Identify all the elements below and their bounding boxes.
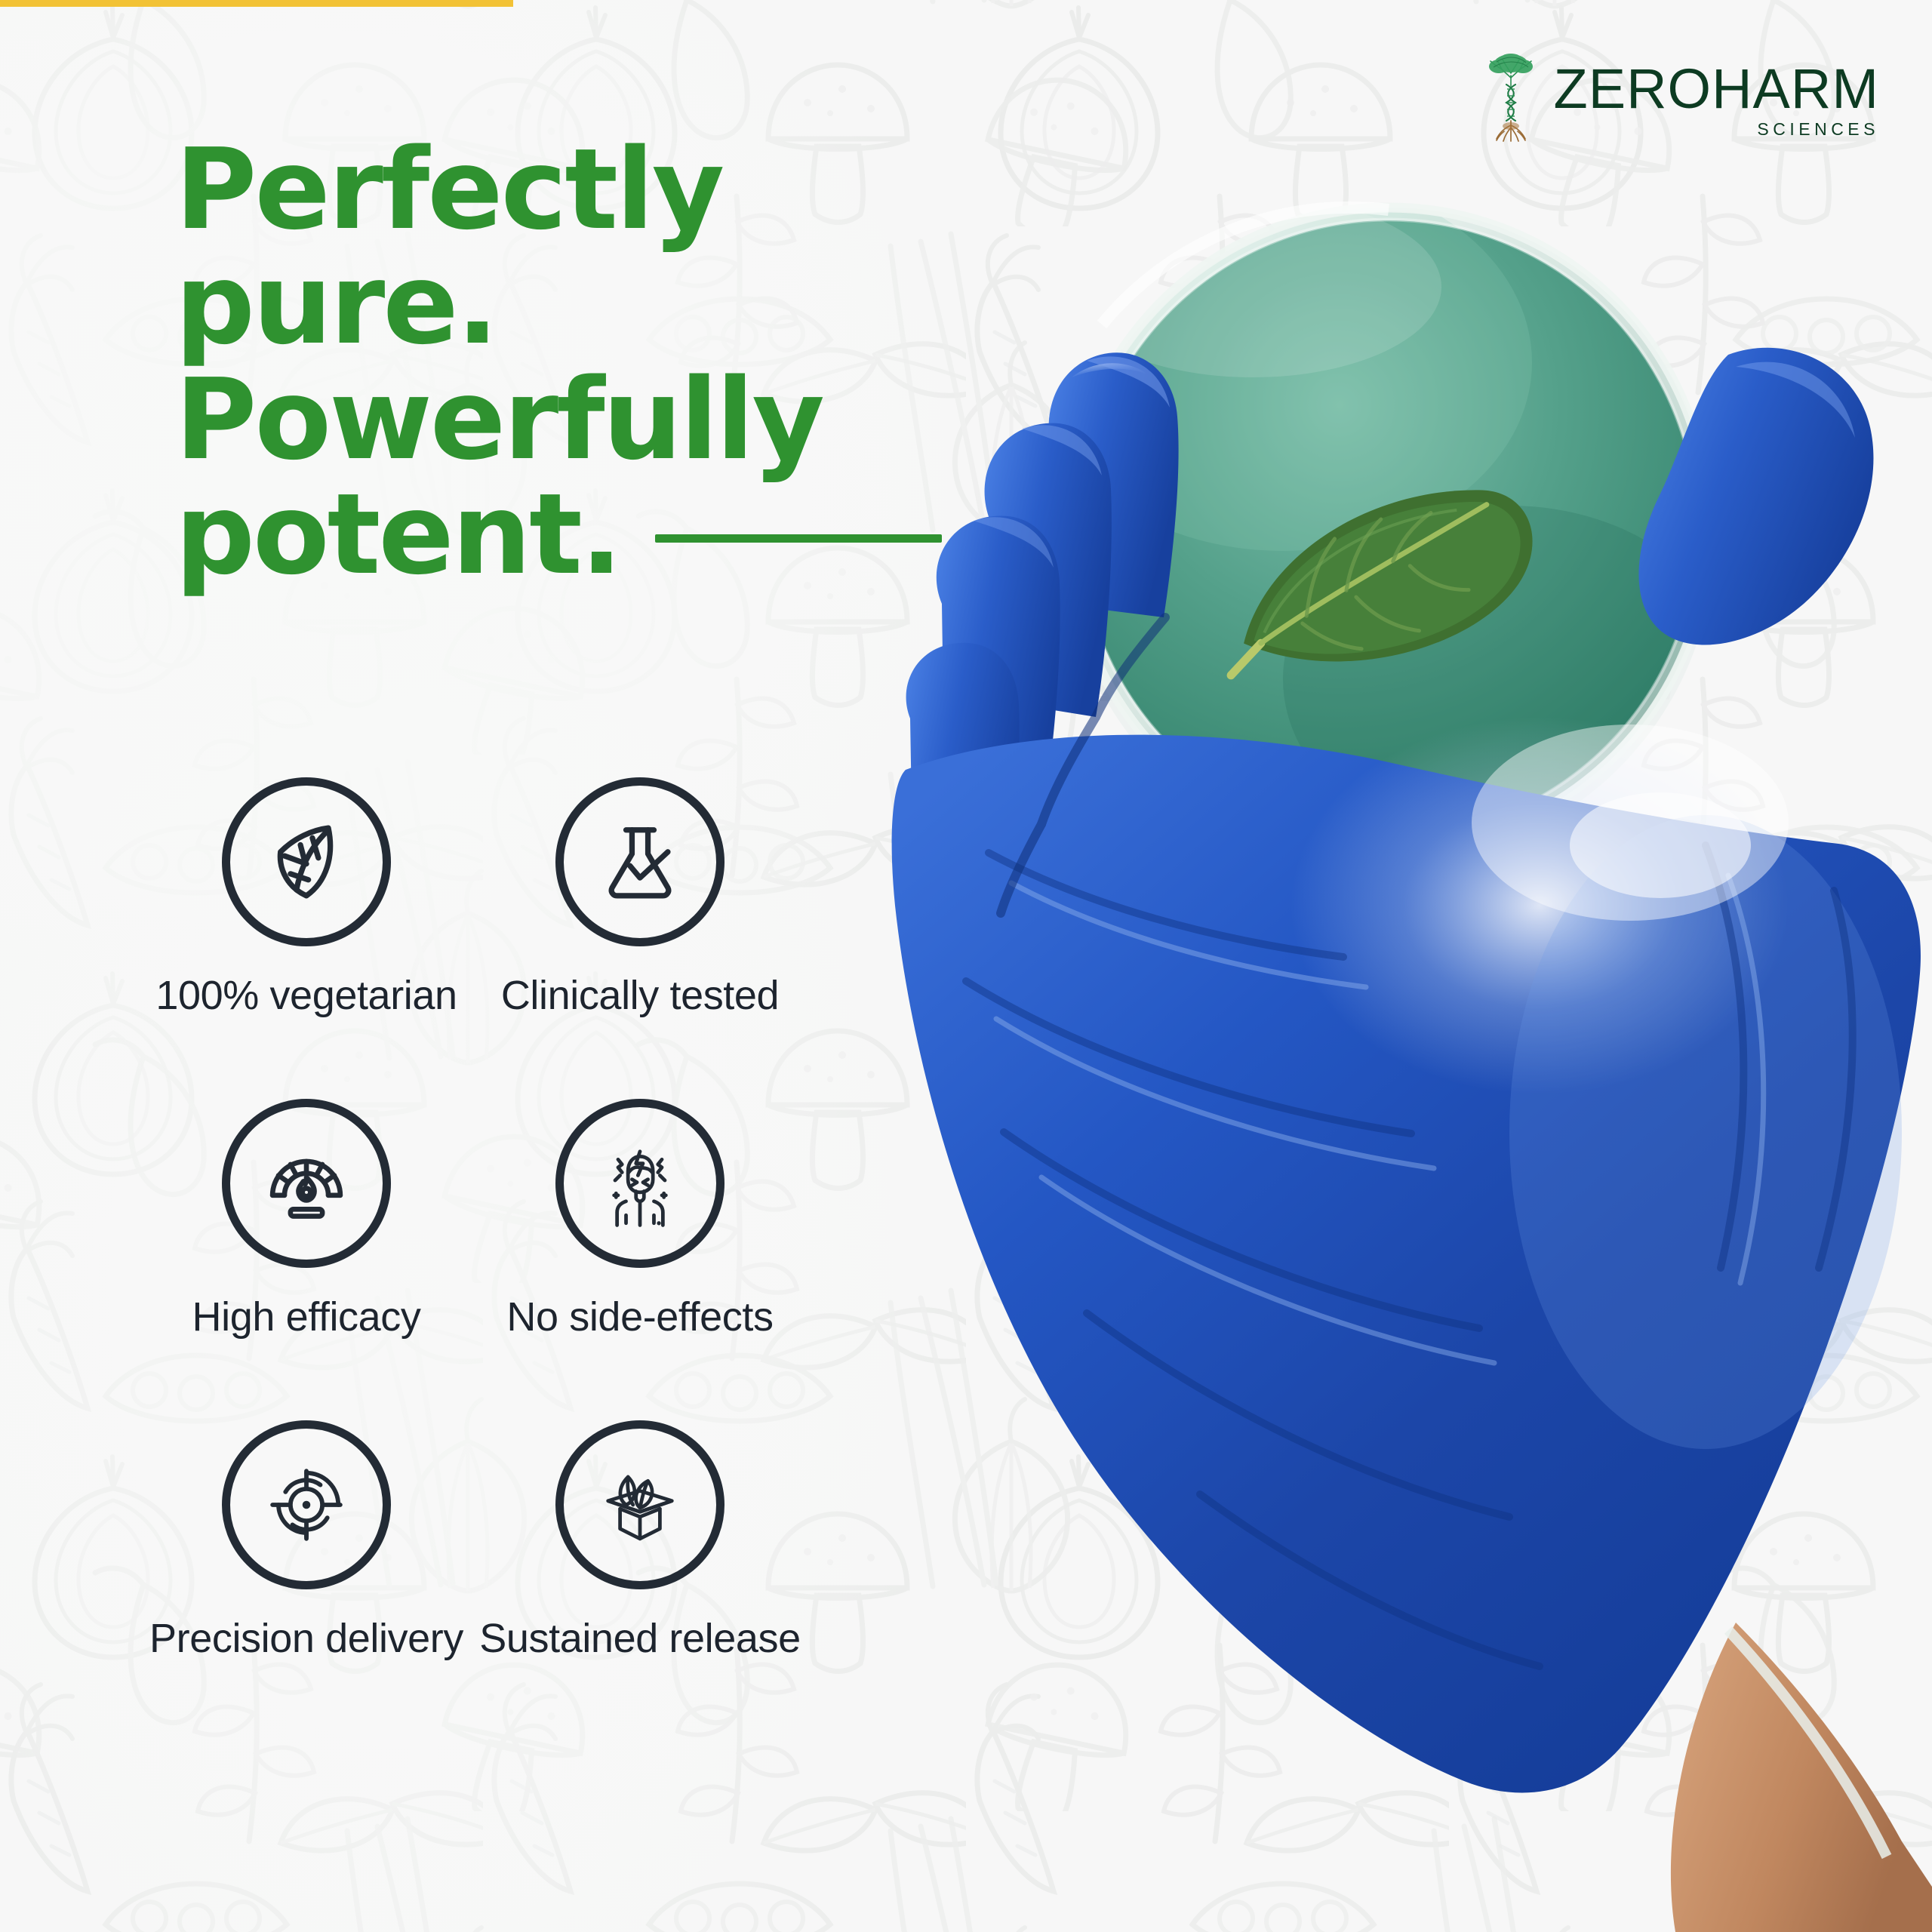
person-headache-icon (590, 1134, 690, 1233)
feature-icon-circle (555, 1099, 724, 1268)
feature-icon-circle (222, 777, 391, 946)
feature-grid: 100% vegetarian Clinically tested (143, 777, 803, 1662)
gloved-hand-petri-dish-photo (860, 0, 1932, 1932)
headline-rule (655, 534, 942, 543)
target-crosshair-icon (257, 1455, 356, 1555)
feature-item[interactable]: Sustained release (477, 1420, 803, 1662)
feature-label: 100% vegetarian (155, 972, 457, 1019)
feature-item[interactable]: No side-effects (477, 1099, 803, 1340)
headline-line-2: pure. (175, 247, 942, 361)
top-accent-bar (0, 0, 513, 7)
brand-logo[interactable]: ZEROHARM SCIENCES (1478, 53, 1879, 142)
feature-icon-circle (555, 1420, 724, 1589)
feature-icon-circle (555, 777, 724, 946)
feature-item[interactable]: Precision delivery (143, 1420, 469, 1662)
feature-label: High efficacy (192, 1294, 421, 1340)
feature-label: Precision delivery (149, 1615, 463, 1662)
feature-label: No side-effects (506, 1294, 773, 1340)
wrist-skin (1671, 1623, 1932, 1932)
tree-dna-roots-icon (1478, 53, 1543, 142)
feature-item[interactable]: High efficacy (143, 1099, 469, 1340)
headline-line-4: potent. (175, 477, 620, 592)
headline-line-1: Perfectly (175, 132, 942, 247)
feature-item[interactable]: 100% vegetarian (143, 777, 469, 1019)
logo-subtitle: SCIENCES (1757, 119, 1879, 140)
feature-label: Clinically tested (501, 972, 779, 1019)
open-box-leaves-icon (590, 1455, 690, 1555)
headline-line-3: Powerfully (175, 362, 942, 477)
feature-icon-circle (222, 1420, 391, 1589)
feature-item[interactable]: Clinically tested (477, 777, 803, 1019)
flask-check-icon (590, 812, 690, 912)
headline-block: Perfectly pure. Powerfully potent. (175, 132, 942, 592)
poster-canvas: ZEROHARM SCIENCES Perfectly pure. Powerf… (0, 0, 1932, 1932)
leaf-icon (257, 812, 356, 912)
logo-title: ZEROHARM (1554, 63, 1879, 115)
logo-wordmark: ZEROHARM SCIENCES (1554, 53, 1879, 140)
feature-label: Sustained release (479, 1615, 801, 1662)
gauge-flame-icon (257, 1134, 356, 1233)
feature-icon-circle (222, 1099, 391, 1268)
headline-line-4-row: potent. (175, 477, 942, 592)
